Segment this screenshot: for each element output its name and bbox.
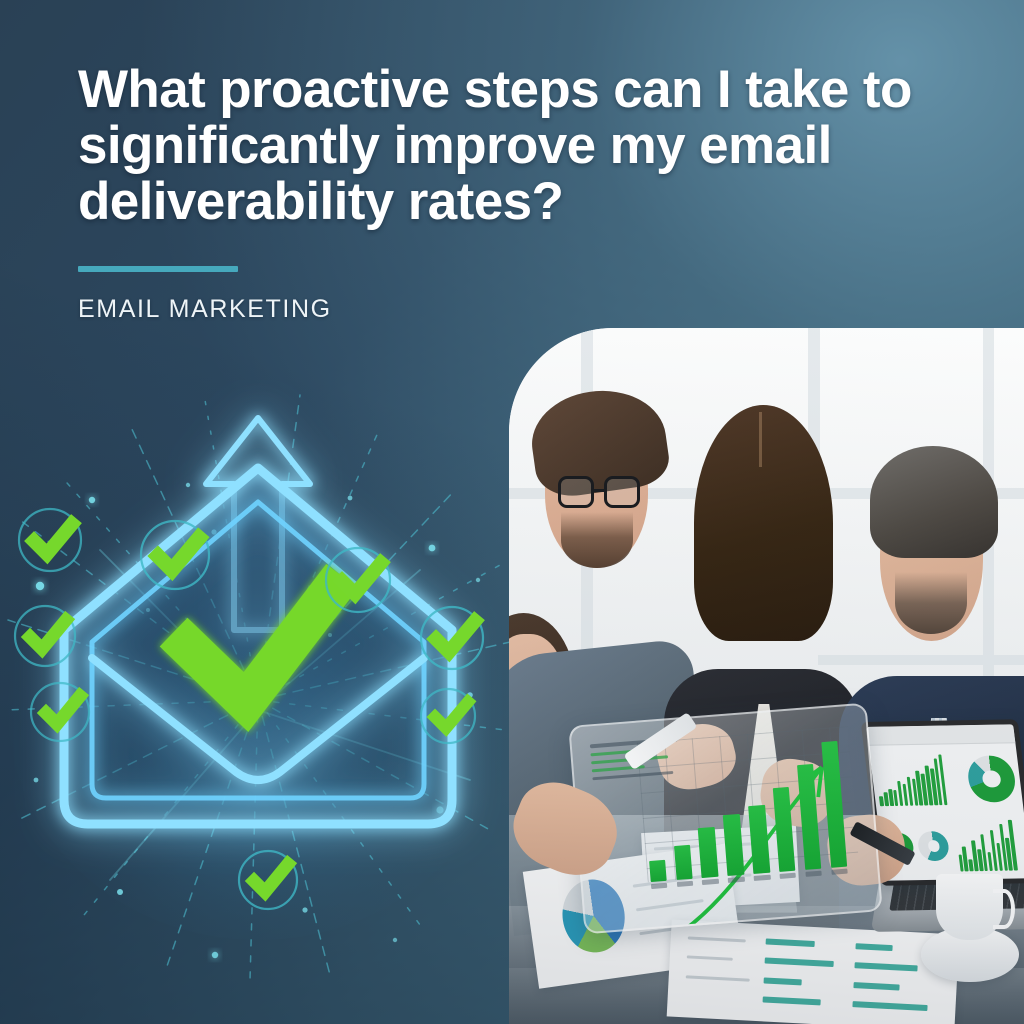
laptop-dashboard-bars-bottom xyxy=(954,819,1018,871)
page-title: What proactive steps can I take to signi… xyxy=(78,62,978,230)
team-photo xyxy=(509,328,1024,1024)
laptop-dashboard-bars-top xyxy=(874,754,948,806)
category-label: EMAIL MARKETING xyxy=(78,295,978,324)
glasses-icon xyxy=(558,476,640,508)
laptop-dashboard-donut-bottom-b xyxy=(916,831,950,861)
transparent-tablet[interactable] xyxy=(568,703,882,935)
accent-divider xyxy=(78,266,238,272)
coffee-cup xyxy=(936,874,1003,940)
laptop-dashboard-donut-top xyxy=(965,755,1017,802)
promo-card: What proactive steps can I take to signi… xyxy=(0,0,1024,1024)
check-left-upper xyxy=(19,509,81,571)
dashboard-panel-top xyxy=(873,747,1018,811)
header-block: What proactive steps can I take to signi… xyxy=(78,62,978,324)
envelope-check-graphic xyxy=(0,380,512,980)
tablet-growth-chart xyxy=(640,736,847,882)
email-illustration xyxy=(0,380,512,980)
